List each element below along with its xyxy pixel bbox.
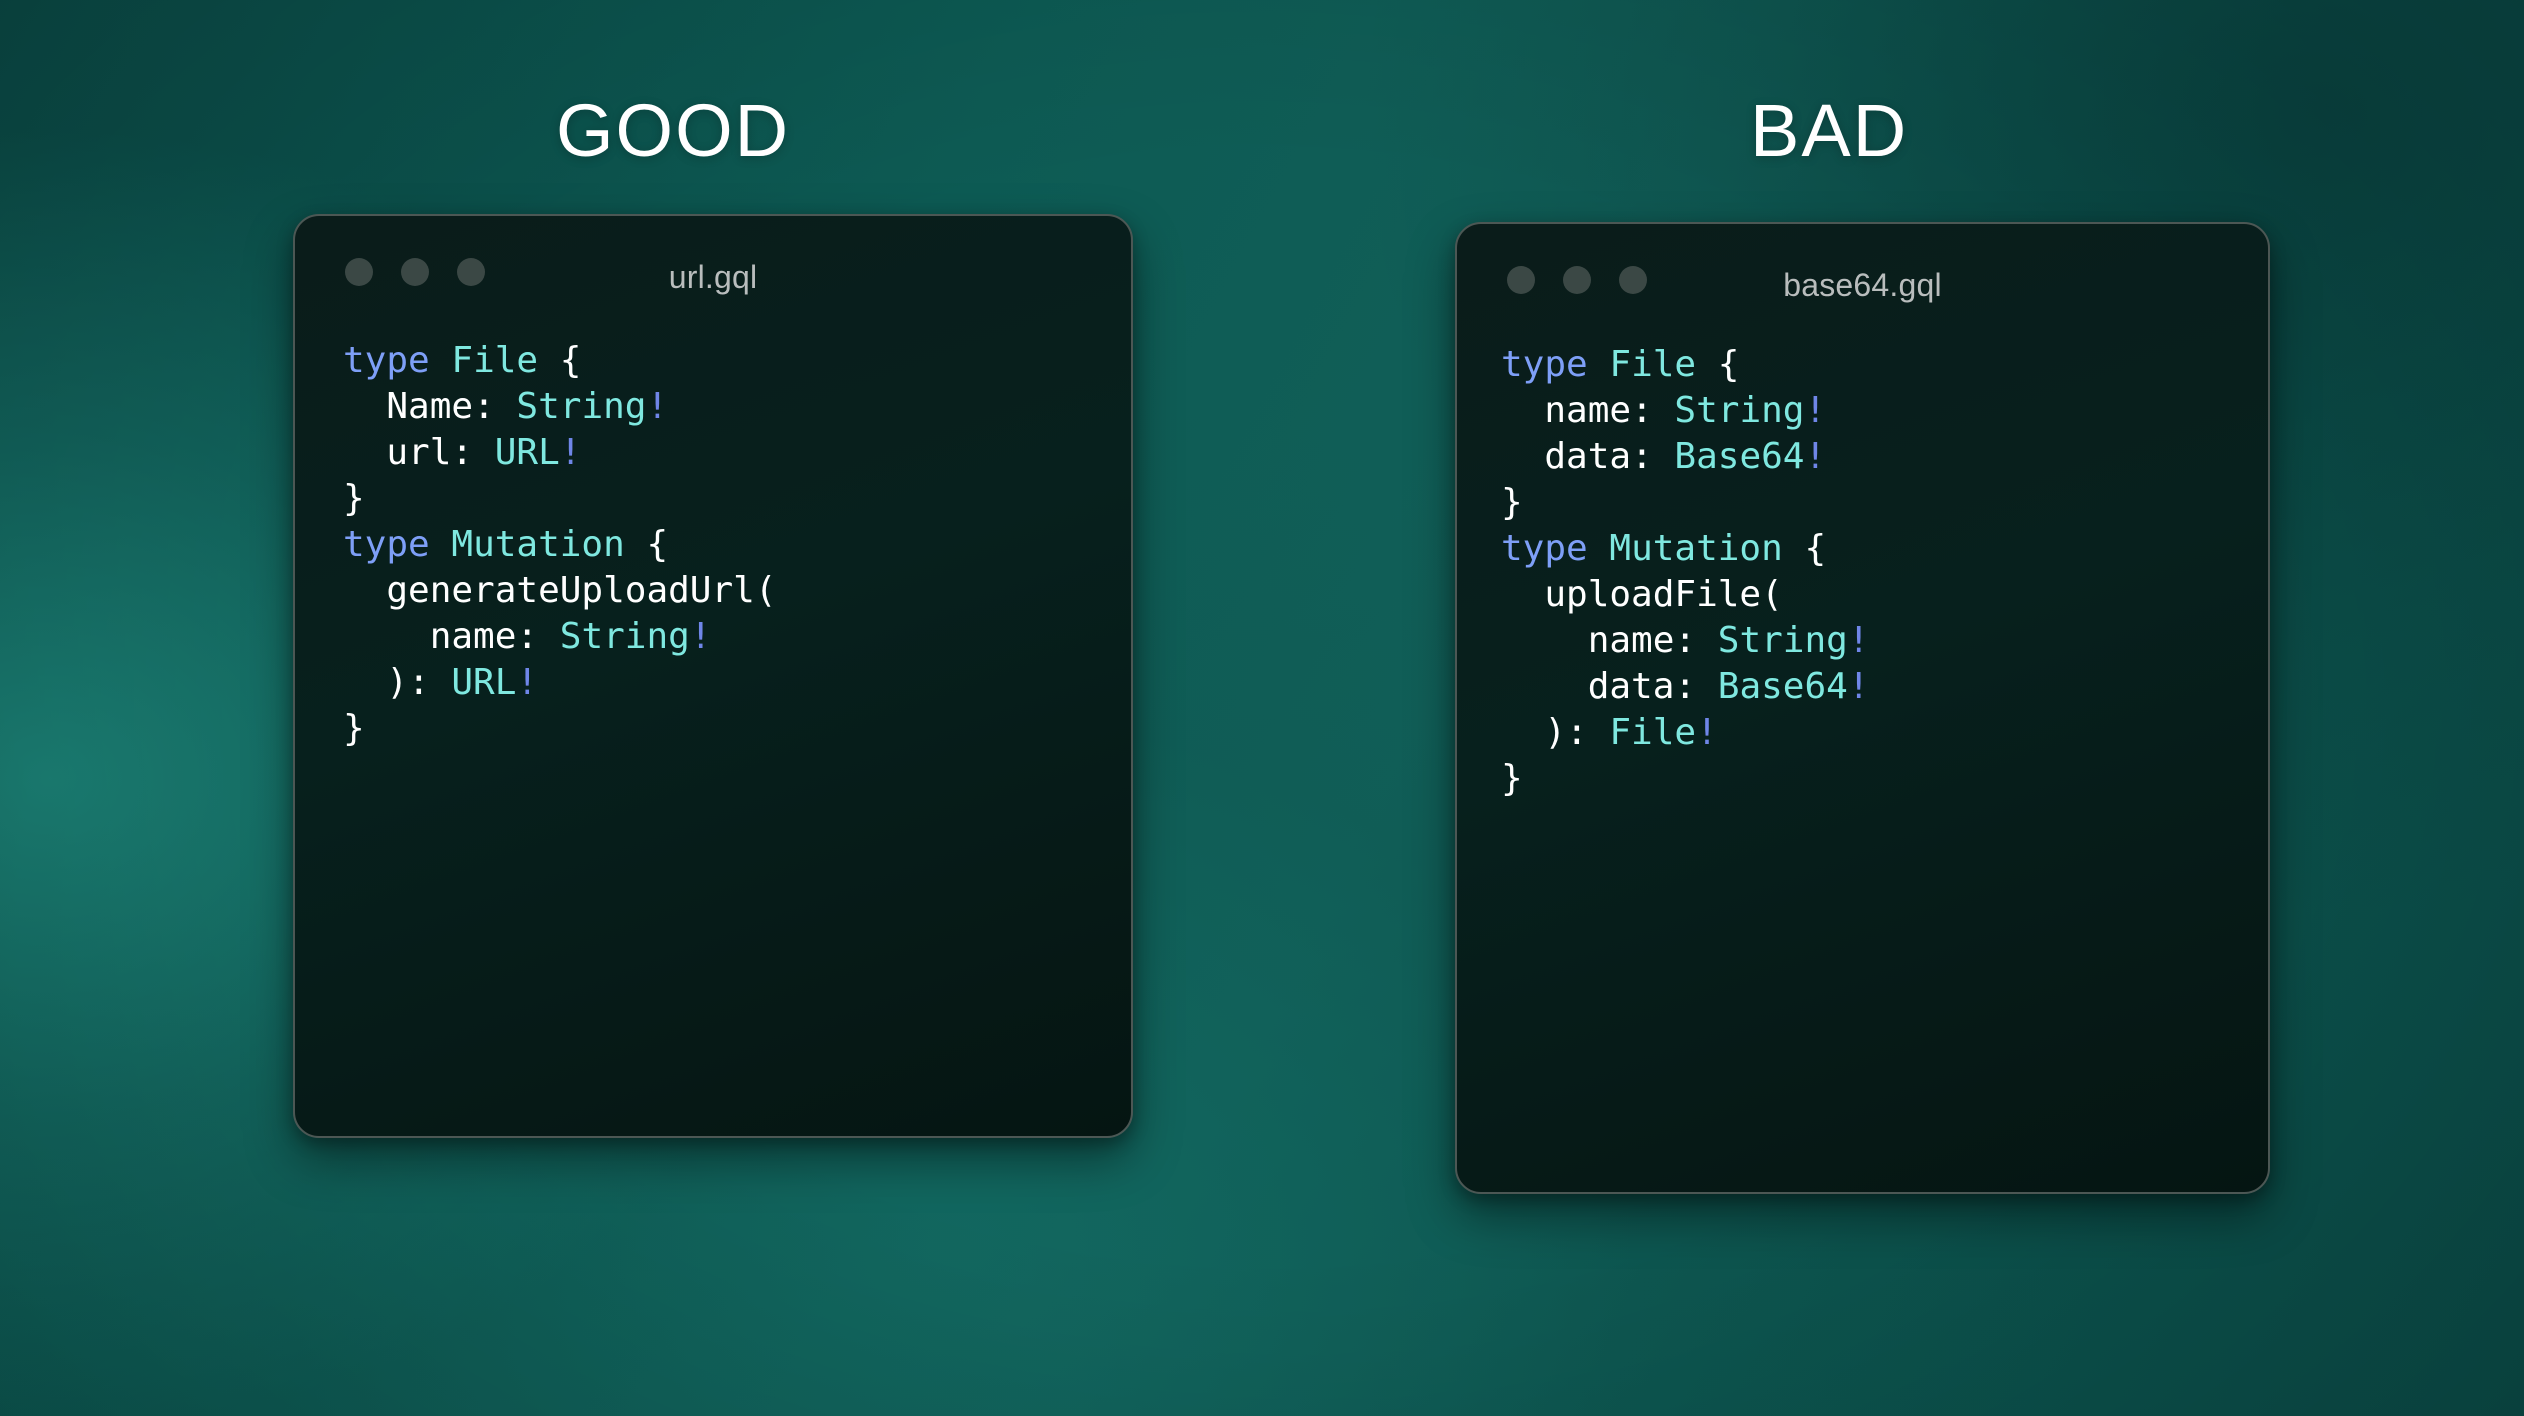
code-token-type: File [1609, 712, 1696, 753]
code-token-kw: type [343, 524, 430, 565]
code-token-bang: ! [646, 386, 668, 427]
code-token-punct [430, 340, 452, 381]
code-token-type: Mutation [1609, 528, 1782, 569]
code-line: } [1501, 756, 2268, 802]
code-line: name: String! [343, 614, 1131, 660]
code-token-punct: ): [1501, 712, 1609, 753]
code-token-bang: ! [1848, 620, 1870, 661]
code-token-bang: ! [1804, 390, 1826, 431]
card-filename-bad: base64.gql [1457, 267, 2268, 304]
code-line: uploadFile( [1501, 572, 2268, 618]
code-block-good: type File { Name: String! url: URL!}type… [295, 320, 1131, 752]
code-token-bang: ! [516, 662, 538, 703]
code-token-punct: ): [343, 662, 451, 703]
code-line: } [343, 706, 1131, 752]
code-token-punct: : [473, 386, 516, 427]
code-token-kw: type [1501, 528, 1588, 569]
code-card-bad: base64.gql type File { name: String! dat… [1455, 222, 2270, 1194]
code-token-name: generateUploadUrl( [386, 570, 776, 611]
code-token-type: Mutation [451, 524, 624, 565]
code-token-punct [343, 616, 430, 657]
code-block-bad: type File { name: String! data: Base64!}… [1457, 328, 2268, 802]
code-token-bang: ! [690, 616, 712, 657]
code-token-punct [343, 570, 386, 611]
code-token-name: name [1588, 620, 1675, 661]
code-token-name: name [1544, 390, 1631, 431]
code-token-bang: ! [560, 432, 582, 473]
code-token-name: Name [386, 386, 473, 427]
code-token-punct [1501, 620, 1588, 661]
code-token-punct: } [1501, 758, 1523, 799]
card-titlebar-bad: base64.gql [1457, 224, 2268, 328]
code-token-type: File [1609, 344, 1696, 385]
code-token-type: String [560, 616, 690, 657]
code-token-name: data [1588, 666, 1675, 707]
code-line: data: Base64! [1501, 434, 2268, 480]
code-token-punct [343, 386, 386, 427]
code-token-punct: { [1696, 344, 1739, 385]
code-line: type File { [1501, 342, 2268, 388]
column-heading-bad: BAD [1750, 94, 1908, 168]
code-line: name: String! [1501, 618, 2268, 664]
code-token-punct: : [516, 616, 559, 657]
code-line: type File { [343, 338, 1131, 384]
code-token-punct: { [538, 340, 581, 381]
code-token-name: name [430, 616, 517, 657]
code-line: generateUploadUrl( [343, 568, 1131, 614]
code-token-punct: { [625, 524, 668, 565]
code-token-punct [1501, 666, 1588, 707]
code-token-punct [343, 432, 386, 473]
code-token-punct [1501, 390, 1544, 431]
code-token-kw: type [1501, 344, 1588, 385]
comparison-stage: GOOD url.gql type File { Name: String! u… [0, 0, 2524, 1416]
code-token-type: File [451, 340, 538, 381]
card-titlebar-good: url.gql [295, 216, 1131, 320]
code-line: Name: String! [343, 384, 1131, 430]
code-token-type: String [1674, 390, 1804, 431]
code-line: ): URL! [343, 660, 1131, 706]
code-line: data: Base64! [1501, 664, 2268, 710]
code-token-punct [1501, 436, 1544, 477]
code-token-punct: : [1631, 436, 1674, 477]
code-token-type: URL [451, 662, 516, 703]
code-token-punct: } [1501, 482, 1523, 523]
code-token-punct: } [343, 708, 365, 749]
code-token-type: Base64 [1674, 436, 1804, 477]
code-token-type: String [516, 386, 646, 427]
code-token-punct: : [1631, 390, 1674, 431]
code-token-punct: { [1783, 528, 1826, 569]
code-token-bang: ! [1696, 712, 1718, 753]
code-token-punct: } [343, 478, 365, 519]
code-line: url: URL! [343, 430, 1131, 476]
column-heading-good: GOOD [556, 94, 790, 168]
code-token-type: String [1718, 620, 1848, 661]
code-token-punct [1501, 574, 1544, 615]
code-token-name: uploadFile( [1544, 574, 1782, 615]
code-card-good: url.gql type File { Name: String! url: U… [293, 214, 1133, 1138]
code-line: name: String! [1501, 388, 2268, 434]
code-line: type Mutation { [1501, 526, 2268, 572]
code-token-name: url [386, 432, 451, 473]
code-line: ): File! [1501, 710, 2268, 756]
code-token-type: URL [495, 432, 560, 473]
code-token-bang: ! [1804, 436, 1826, 477]
code-token-punct [1588, 528, 1610, 569]
code-line: } [1501, 480, 2268, 526]
code-token-bang: ! [1848, 666, 1870, 707]
code-token-punct: : [1674, 666, 1717, 707]
code-token-type: Base64 [1718, 666, 1848, 707]
code-token-punct: : [1674, 620, 1717, 661]
code-token-punct [1588, 344, 1610, 385]
code-line: type Mutation { [343, 522, 1131, 568]
code-token-name: data [1544, 436, 1631, 477]
code-token-punct: : [451, 432, 494, 473]
code-line: } [343, 476, 1131, 522]
code-token-kw: type [343, 340, 430, 381]
card-filename-good: url.gql [295, 259, 1131, 296]
code-token-punct [430, 524, 452, 565]
